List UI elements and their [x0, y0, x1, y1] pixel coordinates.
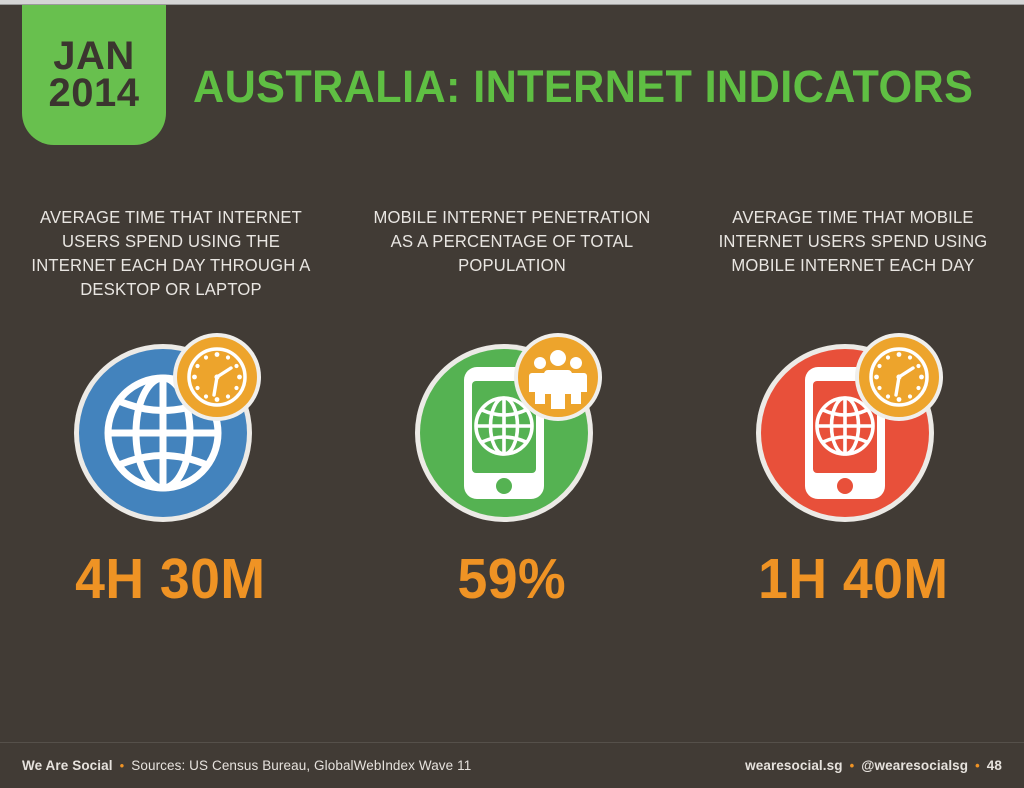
smartphone-globe-circle-icon: [412, 325, 612, 525]
people-badge-icon: [514, 333, 602, 421]
indicator-caption: AVERAGE TIME THAT MOBILE INTERNET USERS …: [711, 205, 996, 309]
smartphone-globe-circle-icon: [753, 325, 953, 525]
indicator-caption: AVERAGE TIME THAT INTERNET USERS SPEND U…: [28, 205, 313, 309]
footer-handle[interactable]: @wearesocialsg: [861, 758, 968, 773]
indicator-caption: MOBILE INTERNET PENETRATION AS A PERCENT…: [369, 205, 654, 309]
indicator-columns: AVERAGE TIME THAT INTERNET USERS SPEND U…: [0, 205, 1024, 608]
indicator-value: 1H 40M: [758, 551, 948, 608]
footer-website[interactable]: wearesocial.sg: [745, 758, 842, 773]
page-title: AUSTRALIA: INTERNET INDICATORS: [193, 61, 973, 113]
bullet-separator-icon: •: [850, 759, 855, 772]
footer-page-number: 48: [987, 758, 1002, 773]
indicator-column-mobile-penetration: MOBILE INTERNET PENETRATION AS A PERCENT…: [341, 205, 682, 608]
bullet-separator-icon: •: [975, 759, 980, 772]
footer-sources: Sources: US Census Bureau, GlobalWebInde…: [131, 758, 471, 773]
indicator-value: 4H 30M: [75, 551, 265, 608]
infographic-slide: JAN 2014 AUSTRALIA: INTERNET INDICATORS …: [0, 0, 1024, 788]
indicator-column-mobile-time: AVERAGE TIME THAT MOBILE INTERNET USERS …: [683, 205, 1024, 608]
indicator-value: 59%: [458, 551, 567, 608]
indicator-column-desktop-time: AVERAGE TIME THAT INTERNET USERS SPEND U…: [0, 205, 341, 608]
badge-month: JAN: [53, 38, 135, 75]
globe-clock-svg: [71, 325, 271, 525]
date-badge: JAN 2014: [22, 5, 166, 145]
bullet-separator-icon: •: [120, 759, 125, 772]
footer-right: wearesocial.sg • @wearesocialsg • 48: [745, 758, 1002, 773]
footer-bar: We Are Social • Sources: US Census Burea…: [0, 742, 1024, 788]
phone-people-svg: [412, 325, 612, 525]
badge-year: 2014: [49, 75, 140, 112]
footer-brand: We Are Social: [22, 758, 113, 773]
globe-circle-icon: [71, 325, 271, 525]
clock-badge-icon: [855, 333, 943, 421]
footer-left: We Are Social • Sources: US Census Burea…: [22, 758, 471, 773]
clock-badge-icon: [173, 333, 261, 421]
phone-clock-svg: [753, 325, 953, 525]
